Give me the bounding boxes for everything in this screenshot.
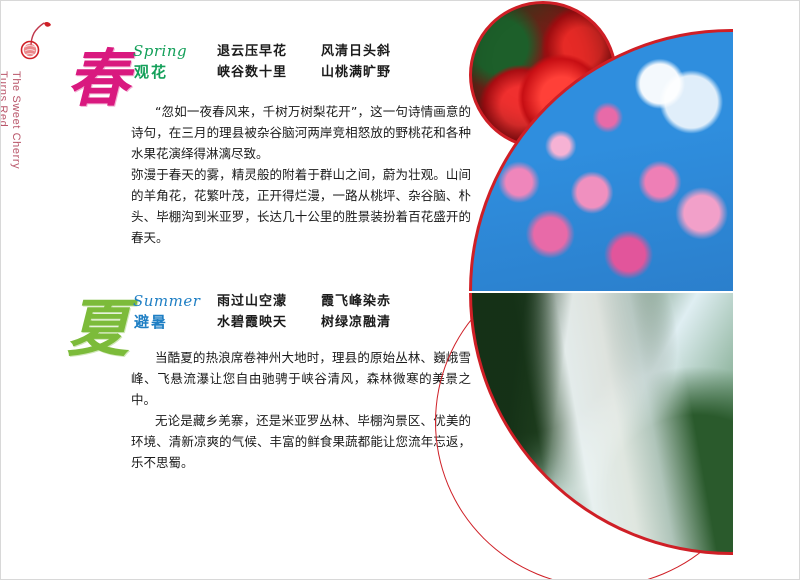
spring-couplet: 退云压早花风清日头斜 峡谷数十里山桃满旷野 — [217, 41, 487, 83]
spring-english-label: Spring — [133, 42, 187, 60]
spring-heading: Spring 观花 退云压早花风清日头斜 峡谷数十里山桃满旷野 — [133, 41, 483, 85]
summer-couplet: 雨过山空濛霞飞峰染赤 水碧霞映天树绿凉融清 — [217, 291, 487, 333]
couplet-line: 退云压早花风清日头斜 — [217, 41, 487, 62]
brand-tagline-line1: The Sweet Cherry — [10, 71, 22, 169]
spring-paragraph: 弥漫于春天的雾，精灵般的附着于群山之间，蔚为壮观。山间的羊角花，花繁叶茂，正开得… — [131, 164, 471, 248]
brand-rail: The Sweet Cherry Turns Red — [15, 19, 55, 219]
summer-heading: Summer 避暑 雨过山空濛霞飞峰染赤 水碧霞映天树绿凉融清 — [133, 291, 483, 335]
couplet-right: 山桃满旷野 — [321, 62, 391, 83]
couplet-line: 雨过山空濛霞飞峰染赤 — [217, 291, 487, 312]
couplet-line: 峡谷数十里山桃满旷野 — [217, 62, 487, 83]
couplet-left: 峡谷数十里 — [217, 62, 321, 83]
couplet-left: 雨过山空濛 — [217, 291, 321, 312]
photo-collage — [469, 1, 799, 580]
brand-tagline-line2: Turns Red — [0, 71, 9, 221]
couplet-right: 霞飞峰染赤 — [321, 291, 391, 312]
couplet-line: 水碧霞映天树绿凉融清 — [217, 312, 487, 333]
couplet-right: 树绿凉融清 — [321, 312, 391, 333]
spring-paragraph: “忽如一夜春风来，千树万树梨花开”，这一句诗情画意的诗句，在三月的理县被杂谷脑河… — [131, 101, 471, 164]
cherry-icon — [15, 19, 55, 71]
brochure-page: The Sweet Cherry Turns Red 春 Spring 观花 退… — [0, 0, 800, 580]
summer-paragraph: 当酷夏的热浪席卷神州大地时，理县的原始丛林、巍峨雪峰、飞悬流瀑让您自由驰骋于峡谷… — [131, 347, 471, 410]
couplet-left: 水碧霞映天 — [217, 312, 321, 333]
spring-body-text: “忽如一夜春风来，千树万树梨花开”，这一句诗情画意的诗句，在三月的理县被杂谷脑河… — [131, 101, 471, 248]
summer-paragraph: 无论是藏乡羌寨，还是米亚罗丛林、毕棚沟景区、优美的环境、清新凉爽的气候、丰富的鲜… — [131, 410, 471, 473]
spring-season-glyph: 春 — [66, 43, 130, 123]
brand-tagline: The Sweet Cherry Turns Red — [0, 71, 22, 221]
summer-season-glyph: 夏 — [66, 293, 130, 373]
couplet-right: 风清日头斜 — [321, 41, 391, 62]
couplet-left: 退云压早花 — [217, 41, 321, 62]
summer-body-text: 当酷夏的热浪席卷神州大地时，理县的原始丛林、巍峨雪峰、飞悬流瀑让您自由驰骋于峡谷… — [131, 347, 471, 473]
summer-chinese-label: 避暑 — [134, 311, 168, 332]
spring-chinese-label: 观花 — [134, 61, 168, 82]
summer-english-label: Summer — [133, 292, 200, 310]
